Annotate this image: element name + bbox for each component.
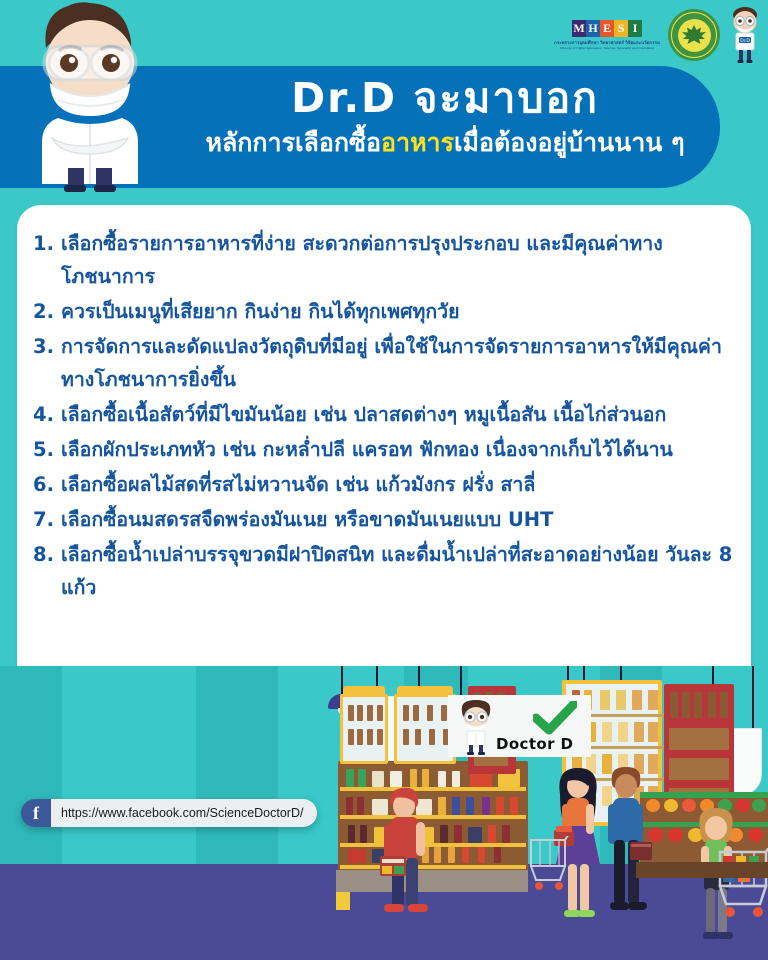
- tip-item: 1. เลือกซื้อรายการอาหารที่ง่าย สะดวกต่อก…: [33, 227, 733, 293]
- product: [440, 825, 448, 843]
- mhesi-letter-blocks: M H E S I: [572, 20, 642, 37]
- tip-text: การจัดการและดัดแปลงวัตถุดิบที่มีอยู่ เพื…: [61, 330, 733, 396]
- mhesi-thai-name: กระทรวงการอุดมศึกษา วิทยาศาสตร์ วิจัยและ…: [554, 39, 660, 46]
- tip-number: 7.: [33, 503, 61, 536]
- fruit: [664, 799, 678, 812]
- tip-number: 6.: [33, 468, 61, 501]
- header-text-block: Dr.D จะมาบอก หลักการเลือกซื้ออาหารเมื่อต…: [150, 70, 740, 185]
- shopper-with-basket: [378, 786, 436, 932]
- product: [403, 705, 409, 721]
- fridge-header: [343, 686, 385, 697]
- product: [427, 705, 433, 721]
- product: [496, 797, 504, 815]
- product: [634, 722, 644, 742]
- product: [482, 797, 490, 815]
- product: [669, 758, 729, 780]
- product: [415, 729, 421, 745]
- product: [616, 690, 626, 710]
- product: [462, 847, 469, 863]
- product: [478, 847, 485, 863]
- dr-d-character-illustration: [22, 2, 158, 192]
- facebook-link-bar[interactable]: f https://www.facebook.com/ScienceDoctor…: [21, 799, 317, 827]
- product: [720, 692, 728, 718]
- mhesi-letter-e: E: [600, 20, 614, 37]
- product: [600, 690, 610, 710]
- doctor-d-sign-label: Doctor D: [496, 735, 573, 753]
- mhesi-letter-h: H: [586, 20, 600, 37]
- produce-trim: [640, 792, 768, 798]
- thai-government-garuda-seal-icon: [668, 9, 720, 61]
- product: [348, 849, 366, 863]
- tip-number: 8.: [33, 538, 61, 571]
- product: [372, 771, 384, 787]
- product: [357, 729, 363, 745]
- dr-d-mini-logo-icon: Dr.D: [728, 6, 762, 64]
- product: [360, 825, 367, 843]
- fridge-header: [397, 686, 453, 697]
- infographic-poster: M H E S I กระทรวงการอุดมศึกษา วิทยาศาสตร…: [0, 0, 768, 960]
- mhesi-logo: M H E S I กระทรวงการอุดมศึกษา วิทยาศาสตร…: [554, 20, 660, 50]
- subtitle-part-before: หลักการเลือกซื้อ: [205, 128, 381, 157]
- product: [429, 729, 435, 745]
- seal-ring: [671, 12, 717, 58]
- svg-text:Dr.D: Dr.D: [740, 38, 750, 44]
- product: [422, 769, 429, 787]
- product: [682, 692, 690, 718]
- sign-wire: [460, 666, 462, 696]
- product: [357, 705, 363, 721]
- shopping-cart: [528, 836, 570, 898]
- product: [377, 705, 383, 721]
- endcap: [336, 892, 350, 910]
- product: [452, 797, 460, 815]
- product: [358, 769, 366, 787]
- shopper-man-basket: [600, 764, 652, 938]
- tip-number: 2.: [33, 295, 61, 328]
- tip-text: ควรเป็นเมนูที่เสียยาก กินง่าย กินได้ทุกเ…: [61, 295, 733, 328]
- facebook-url-text[interactable]: https://www.facebook.com/ScienceDoctorD/: [51, 799, 317, 827]
- product: [494, 847, 501, 863]
- mhesi-letter-i: I: [628, 20, 642, 37]
- tip-number: 3.: [33, 330, 61, 363]
- facebook-icon[interactable]: f: [21, 799, 51, 827]
- dr-d-sign-character-icon: [456, 699, 496, 755]
- product: [488, 825, 496, 843]
- tip-item: 5. เลือกผักประเภทหัว เช่น กะหล่ำปลี แครอ…: [33, 433, 733, 466]
- product: [377, 729, 383, 745]
- fridge-unit: [340, 694, 388, 764]
- tip-item: 7. เลือกซื้อนมสดรสจืดพร่องมันเนย หรือขาด…: [33, 503, 733, 536]
- product: [403, 729, 409, 745]
- tip-text: เลือกซื้อน้ำเปล่าบรรจุขวดมีฝาปิดสนิท และ…: [61, 538, 733, 604]
- product: [390, 771, 402, 787]
- product: [632, 690, 642, 710]
- tip-number: 1.: [33, 227, 61, 260]
- logo-row: M H E S I กระทรวงการอุดมศึกษา วิทยาศาสตร…: [554, 4, 762, 66]
- product: [348, 705, 354, 721]
- product: [410, 769, 417, 787]
- fruit: [752, 799, 766, 812]
- tip-item: 2. ควรเป็นเมนูที่เสียยาก กินง่าย กินได้ท…: [33, 295, 733, 328]
- product: [367, 729, 373, 745]
- mhesi-letter-m: M: [572, 20, 586, 37]
- product: [466, 797, 474, 815]
- product: [413, 705, 419, 721]
- tip-text: เลือกซื้อผลไม้สดที่รสไม่หวานจัด เช่น แก้…: [61, 468, 733, 501]
- product: [346, 769, 354, 787]
- product: [348, 825, 355, 843]
- product: [357, 797, 364, 815]
- tip-number: 4.: [33, 398, 61, 431]
- product: [670, 692, 678, 718]
- product: [648, 690, 658, 710]
- product: [694, 692, 702, 718]
- doctor-d-sign: Doctor D: [448, 695, 591, 757]
- product: [669, 728, 729, 750]
- sign-wire: [752, 666, 754, 728]
- product: [452, 771, 460, 787]
- mhesi-english-name: Ministry of Higher Education, Science, R…: [560, 46, 654, 50]
- fruit: [668, 828, 683, 842]
- tip-item: 6. เลือกซื้อผลไม้สดที่รสไม่หวานจัด เช่น …: [33, 468, 733, 501]
- subtitle-part-after: เมื่อต้องอยู่บ้านนาน ๆ: [454, 128, 685, 157]
- page-subtitle: หลักการเลือกซื้ออาหารเมื่อต้องอยู่บ้านนา…: [150, 126, 740, 160]
- product: [441, 705, 447, 721]
- fruit: [748, 828, 763, 842]
- product: [448, 847, 455, 863]
- product: [438, 797, 446, 815]
- green-check-icon: [533, 701, 577, 735]
- tip-text: เลือกซื้อเนื้อสัตว์ที่มีไขมันน้อย เช่น ป…: [61, 398, 733, 431]
- product: [648, 722, 658, 742]
- product: [468, 827, 482, 843]
- tip-item: 8. เลือกซื้อน้ำเปล่าบรรจุขวดมีฝาปิดสนิท …: [33, 538, 733, 604]
- product: [602, 722, 612, 742]
- subtitle-highlight-word: อาหาร: [381, 128, 454, 157]
- product: [618, 722, 628, 742]
- product: [367, 705, 373, 721]
- product: [454, 825, 462, 843]
- tip-item: 3. การจัดการและดัดแปลงวัตถุดิบที่มีอยู่ …: [33, 330, 733, 396]
- product: [438, 771, 446, 787]
- mhesi-letter-s: S: [614, 20, 628, 37]
- produce-base: [636, 862, 768, 878]
- product: [502, 825, 510, 843]
- tip-item: 4. เลือกซื้อเนื้อสัตว์ที่มีไขมันน้อย เช่…: [33, 398, 733, 431]
- shopping-cart: [716, 848, 768, 926]
- fridge-unit: [394, 694, 456, 764]
- product: [510, 797, 518, 815]
- product: [708, 692, 716, 718]
- product: [348, 729, 354, 745]
- tip-text: เลือกซื้อนมสดรสจืดพร่องมันเนย หรือขาดมัน…: [61, 503, 733, 536]
- tip-number: 5.: [33, 433, 61, 466]
- tip-text: เลือกผักประเภทหัว เช่น กะหล่ำปลี แครอท ฟ…: [61, 433, 733, 466]
- page-title: Dr.D จะมาบอก: [150, 70, 740, 126]
- tip-text: เลือกซื้อรายการอาหารที่ง่าย สะดวกต่อการป…: [61, 227, 733, 293]
- tips-card: 1. เลือกซื้อรายการอาหารที่ง่าย สะดวกต่อก…: [17, 205, 751, 710]
- product: [346, 797, 353, 815]
